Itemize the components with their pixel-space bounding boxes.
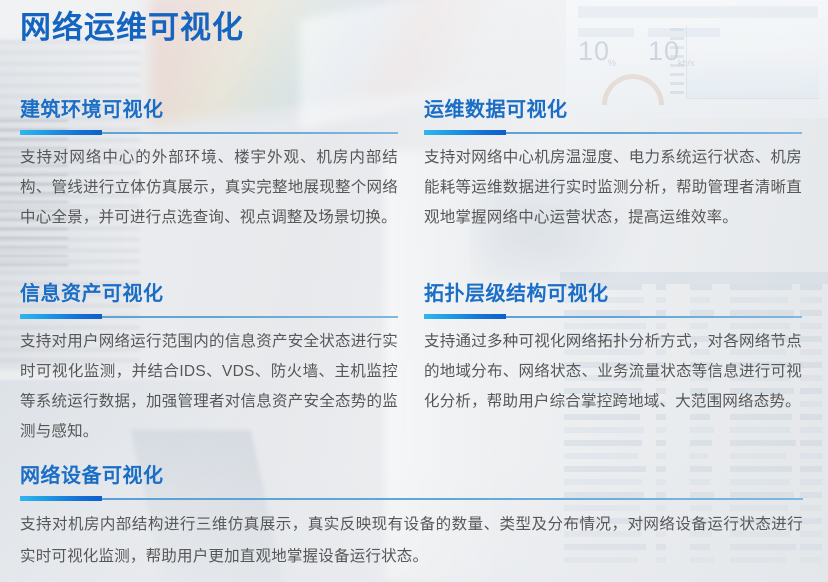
section-divider [424, 314, 802, 319]
section-body: 支持对网络中心的外部环境、楼宇外观、机房内部结构、管线进行立体仿真展示，真实完整… [20, 143, 398, 233]
section-title: 拓扑层级结构可视化 [424, 281, 802, 307]
divider-accent-bar-icon [20, 130, 102, 135]
section-body: 支持通过多种可视化网络拓扑分析方式，对各网络节点的地域分布、网络状态、业务流量状… [424, 327, 802, 417]
divider-accent-bar-icon [424, 314, 506, 319]
section-divider [424, 130, 802, 135]
section-information-assets: 信息资产可视化 支持对用户网络运行范围内的信息资产安全状态进行实时可视化监测，并… [20, 281, 398, 447]
section-network-devices: 网络设备可视化 支持对机房内部结构进行三维仿真展示，真实反映现有设备的数量、类型… [20, 463, 803, 573]
section-ops-data: 运维数据可视化 支持对网络中心机房温湿度、电力系统运行状态、机房能耗等运维数据进… [424, 97, 802, 233]
section-body: 支持对机房内部结构进行三维仿真展示，真实反映现有设备的数量、类型及分布情况，对网… [20, 509, 803, 573]
divider-accent-bar-icon [20, 496, 102, 501]
section-title: 运维数据可视化 [424, 97, 802, 123]
section-title: 网络设备可视化 [20, 463, 803, 489]
divider-accent-bar-icon [424, 130, 506, 135]
content-root: 网络运维可视化 建筑环境可视化 支持对网络中心的外部环境、楼宇外观、机房内部结构… [0, 0, 828, 582]
divider-thin-line-icon [20, 498, 803, 500]
divider-accent-bar-icon [20, 314, 102, 319]
section-divider [20, 496, 803, 501]
section-body: 支持对用户网络运行范围内的信息资产安全状态进行实时可视化监测，并结合IDS、VD… [20, 327, 398, 447]
slide-root: 10 % 10 kb/s 网络运维可视化 [0, 0, 828, 582]
section-title: 信息资产可视化 [20, 281, 398, 307]
section-topology-hierarchy: 拓扑层级结构可视化 支持通过多种可视化网络拓扑分析方式，对各网络节点的地域分布、… [424, 281, 802, 417]
page-title: 网络运维可视化 [20, 8, 244, 48]
section-title: 建筑环境可视化 [20, 97, 398, 123]
section-divider [20, 314, 398, 319]
section-body: 支持对网络中心机房温湿度、电力系统运行状态、机房能耗等运维数据进行实时监测分析，… [424, 143, 802, 233]
section-building-environment: 建筑环境可视化 支持对网络中心的外部环境、楼宇外观、机房内部结构、管线进行立体仿… [20, 97, 398, 233]
section-divider [20, 130, 398, 135]
